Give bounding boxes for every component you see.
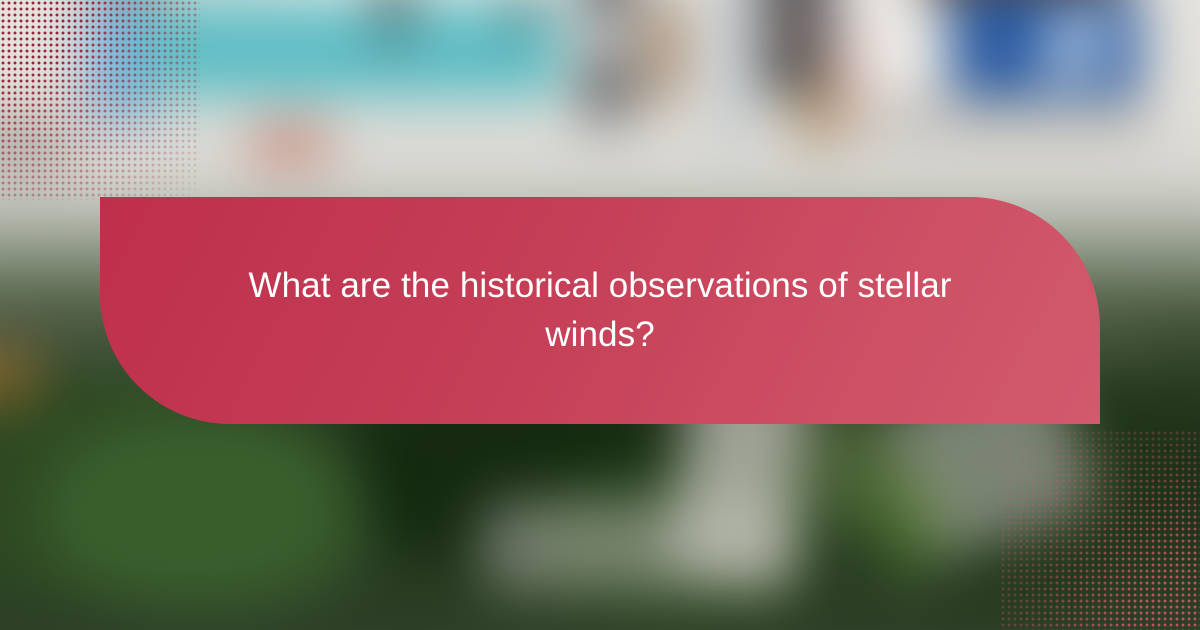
question-title: What are the historical observations of … (220, 262, 980, 359)
bg-shape-counter (870, 100, 1150, 136)
bg-shape-shelf-item-2 (586, 60, 628, 116)
screenshot-canvas: What are the historical observations of … (0, 0, 1200, 630)
bg-shape-person-face (776, 2, 818, 48)
question-card: What are the historical observations of … (100, 197, 1100, 424)
bg-shape-dark-object-2 (512, 0, 532, 37)
bg-shape-left-red-box (250, 120, 330, 165)
bg-shape-brown-bag (640, 0, 685, 105)
bg-shape-leaf-bright (870, 470, 950, 580)
bg-shape-left-gray-box (0, 120, 70, 168)
bg-shape-teal-banner-inner (155, 32, 545, 78)
bg-shape-shelf-item-1 (588, 0, 628, 10)
bg-shape-tan-box (792, 70, 848, 145)
bg-shape-walkway-3 (480, 500, 800, 590)
bg-shape-white-sign (870, 0, 940, 90)
bg-shape-dark-object-1 (380, 0, 408, 43)
bg-shape-blue-pole (720, 0, 750, 140)
bg-shape-foliage-2 (40, 410, 370, 610)
